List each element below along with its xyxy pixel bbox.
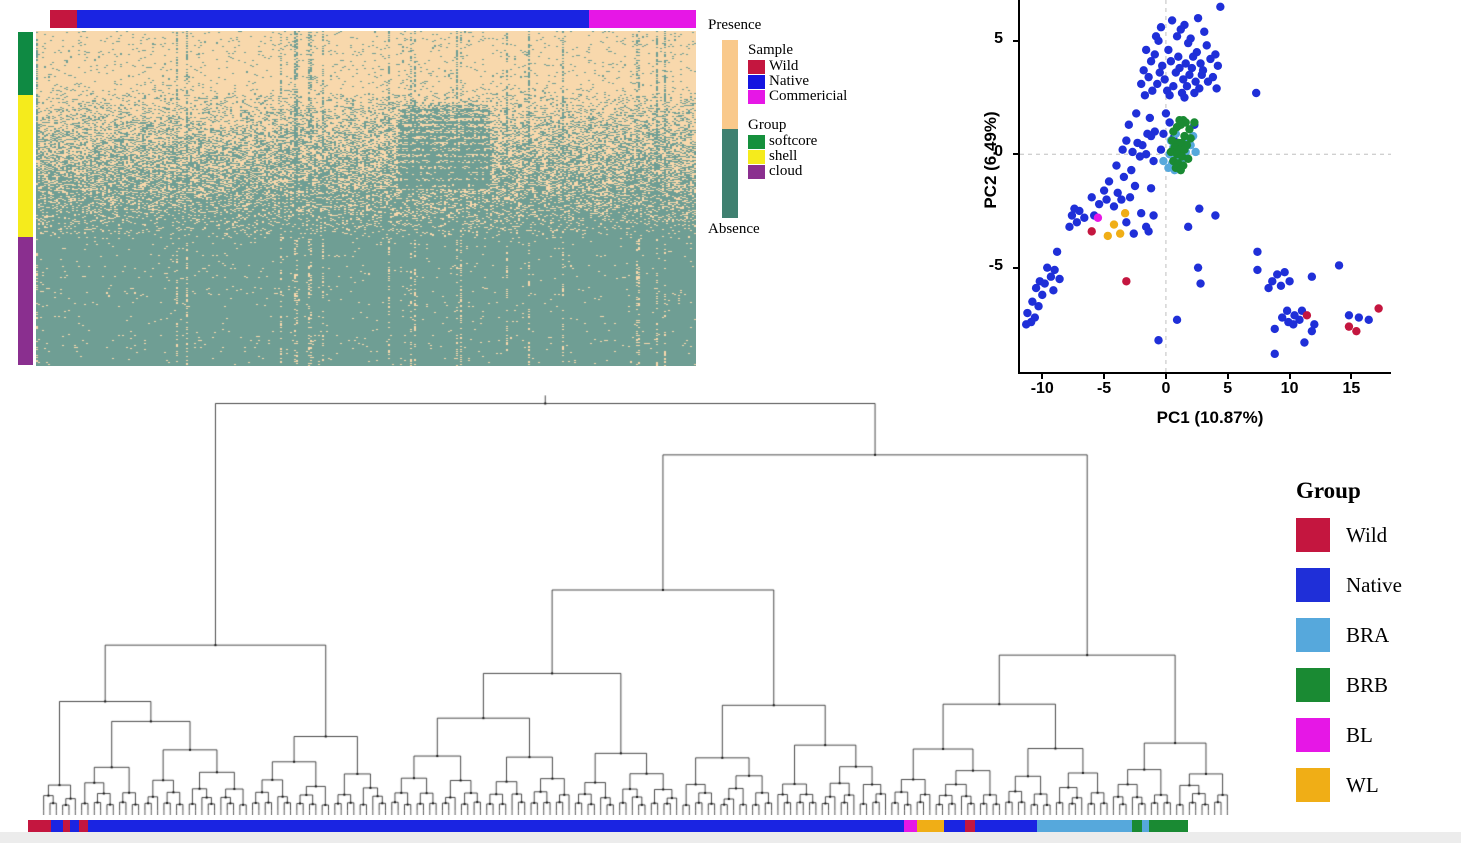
pca-panel: PC2 (6.49%) PC1 (10.87%) -10-505101550-5 [930, 0, 1461, 440]
sample-legend-label-commericial: Commericial [769, 89, 847, 104]
pca-x-axis-line [1018, 372, 1391, 374]
group-legend-small-item-softcore: softcore [748, 134, 878, 149]
sample-legend-label-native: Native [769, 74, 809, 89]
pca-plot-area [1020, 0, 1391, 372]
group-legend-item-bl: BL [1296, 710, 1461, 760]
pca-xtick-1 [1103, 374, 1105, 379]
heatmap-canvas [36, 31, 696, 366]
group-legend-items-small: softcoreshellcloud [748, 134, 878, 179]
heatmap-left-seg-shell [18, 95, 33, 237]
heatmap-body [36, 31, 696, 366]
pca-scatter-canvas [1020, 0, 1391, 372]
heatmap-top-seg-wild [50, 10, 77, 28]
group-swatch-brb [1296, 668, 1330, 702]
pca-xtick-5 [1350, 374, 1352, 379]
group-label-bl: BL [1346, 723, 1373, 748]
group-legend-title-small: Group [748, 117, 878, 133]
group-label-brb: BRB [1346, 673, 1388, 698]
pca-ytick-2 [1013, 267, 1018, 269]
legend-spacer [748, 104, 878, 117]
sample-legend-title: Sample [748, 42, 878, 58]
group-legend-small-item-cloud: cloud [748, 164, 878, 179]
pca-xtick-2 [1165, 374, 1167, 379]
group-legend-small-label-cloud: cloud [769, 164, 802, 179]
sample-legend-item-wild: Wild [748, 59, 878, 74]
group-legend-small-label-softcore: softcore [769, 134, 817, 149]
sample-legend-swatch-wild [748, 60, 765, 74]
pca-xtick-label-4: 10 [1270, 380, 1310, 398]
group-swatch-bl [1296, 718, 1330, 752]
sample-legend-items: WildNativeCommericial [748, 59, 878, 104]
heatmap-top-seg-commericial [589, 10, 696, 28]
heatmap-top-seg-native [77, 10, 589, 28]
group-legend-item-bra: BRA [1296, 610, 1461, 660]
group-legend-small-swatch-shell [748, 150, 765, 164]
pca-ytick-1 [1013, 153, 1018, 155]
pca-xtick-0 [1041, 374, 1043, 379]
heatmap-left-seg-softcore [18, 32, 33, 95]
absence-label: Absence [708, 222, 760, 237]
group-legend-small-label-shell: shell [769, 149, 797, 164]
bottom-strip [0, 832, 1461, 843]
group-legend-item-brb: BRB [1296, 660, 1461, 710]
group-legend-title: Group [1296, 478, 1461, 504]
group-label-wl: WL [1346, 773, 1379, 798]
group-swatch-wild [1296, 518, 1330, 552]
pca-ytick-label-2: -5 [963, 257, 1003, 275]
presence-absence-gradient [722, 40, 738, 218]
presence-swatch [722, 40, 738, 129]
group-label-bra: BRA [1346, 623, 1389, 648]
group-swatch-bra [1296, 618, 1330, 652]
heatmap-panel [0, 0, 710, 385]
pca-xtick-3 [1227, 374, 1229, 379]
pca-ytick-0 [1013, 40, 1018, 42]
pca-xtick-4 [1289, 374, 1291, 379]
group-label-native: Native [1346, 573, 1402, 598]
group-legend-item-list: WildNativeBRABRBBLWL [1296, 510, 1461, 810]
group-legend-item-native: Native [1296, 560, 1461, 610]
absence-swatch [722, 129, 738, 218]
pca-ytick-label-1: 0 [963, 143, 1003, 161]
sample-legend-item-native: Native [748, 74, 878, 89]
dendrogram-panel [40, 395, 1230, 843]
group-legend-small-item-shell: shell [748, 149, 878, 164]
heatmap-top-annotation-bar [50, 10, 696, 28]
group-swatch-native [1296, 568, 1330, 602]
pca-xtick-label-5: 15 [1331, 380, 1371, 398]
group-legend-panel: Group WildNativeBRABRBBLWL [1296, 478, 1461, 808]
dendrogram-canvas [40, 395, 1230, 815]
group-legend-item-wild: Wild [1296, 510, 1461, 560]
heatmap-left-seg-cloud [18, 237, 33, 365]
heatmap-legend: Presence Absence Sample WildNativeCommer… [708, 18, 878, 238]
group-swatch-wl [1296, 768, 1330, 802]
group-legend-small-swatch-cloud [748, 165, 765, 179]
group-label-wild: Wild [1346, 523, 1387, 548]
heatmap-left-annotation-bar [18, 32, 33, 365]
sample-legend-swatch-commericial [748, 90, 765, 104]
group-legend-small-swatch-softcore [748, 135, 765, 149]
sample-legend-label-wild: Wild [769, 59, 798, 74]
sample-legend-swatch-native [748, 75, 765, 89]
group-legend-item-wl: WL [1296, 760, 1461, 810]
pca-ytick-label-0: 5 [963, 30, 1003, 48]
presence-label: Presence [708, 18, 761, 33]
sample-legend-item-commericial: Commericial [748, 89, 878, 104]
